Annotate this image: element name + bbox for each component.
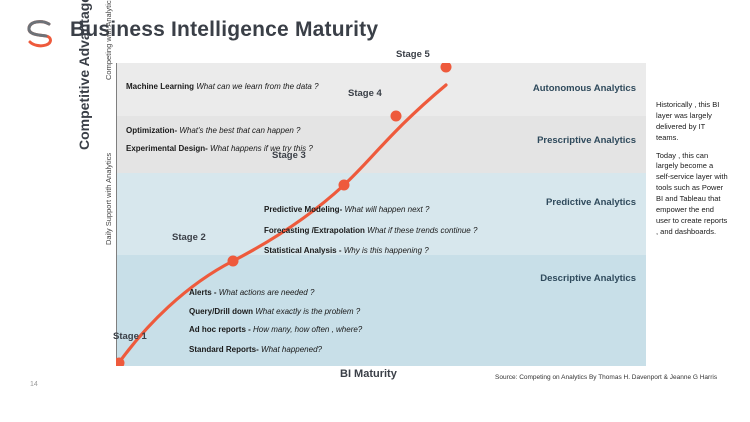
y-axis-title: Competitive Advantage (76, 0, 92, 150)
band-label-descriptive: Descriptive Analytics (540, 273, 636, 284)
plot-area: Autonomous Analytics Prescriptive Analyt… (116, 63, 646, 366)
item-term: Predictive Modeling- (264, 205, 342, 214)
item-predictive-modeling: Predictive Modeling- What will happen ne… (264, 205, 429, 214)
y-axis-subtitle-top: Competing with Analytics (104, 0, 113, 80)
item-question: Why is this happening ? (344, 246, 429, 255)
item-standard-reports: Standard Reports- What happened? (189, 345, 322, 354)
item-question: How many, how often , where? (253, 325, 362, 334)
y-axis-subtitle-bottom: Daily Support with Analytics (104, 153, 113, 245)
item-statistical-analysis: Statistical Analysis - Why is this happe… (264, 246, 429, 255)
item-machine-learning: Machine Learning What can we learn from … (126, 82, 319, 91)
item-term: Experimental Design- (126, 144, 208, 153)
side-note-paragraph-2: Today , this can largely become a self-s… (656, 151, 728, 238)
item-question: What will happen next ? (344, 205, 429, 214)
item-term: Ad hoc reports - (189, 325, 251, 334)
band-label-predictive: Predictive Analytics (546, 197, 636, 208)
item-alerts: Alerts - What actions are needed ? (189, 288, 314, 297)
stage-label-1: Stage 1 (113, 331, 147, 342)
band-label-autonomous: Autonomous Analytics (533, 83, 636, 94)
stage-label-4: Stage 4 (348, 88, 382, 99)
slide: Business Intelligence Maturity 14 Compet… (0, 0, 750, 422)
side-note-paragraph-1: Historically , this BI layer was largely… (656, 100, 728, 144)
item-question: What can we learn from the data ? (196, 82, 318, 91)
source-citation: Source: Competing on Analytics By Thomas… (495, 374, 717, 381)
item-term: Alerts - (189, 288, 217, 297)
item-query-drill-down: Query/Drill down What exactly is the pro… (189, 307, 360, 316)
item-question: What happens if we try this ? (210, 144, 313, 153)
page-title: Business Intelligence Maturity (70, 18, 378, 42)
stage-label-5: Stage 5 (396, 49, 430, 60)
side-note: Historically , this BI layer was largely… (656, 100, 728, 245)
item-forecasting: Forecasting /Extrapolation What if these… (264, 226, 477, 235)
item-ad-hoc-reports: Ad hoc reports - How many, how often , w… (189, 325, 362, 334)
item-question: What's the best that can happen ? (179, 126, 300, 135)
s-logo-icon (22, 18, 58, 52)
item-optimization: Optimization- What's the best that can h… (126, 126, 301, 135)
item-term: Statistical Analysis - (264, 246, 342, 255)
band-label-prescriptive: Prescriptive Analytics (537, 135, 636, 146)
item-question: What happened? (261, 345, 322, 354)
item-term: Query/Drill down (189, 307, 253, 316)
item-term: Forecasting /Extrapolation (264, 226, 365, 235)
item-term: Standard Reports- (189, 345, 259, 354)
item-term: Machine Learning (126, 82, 194, 91)
item-question: What exactly is the problem ? (255, 307, 360, 316)
item-question: What if these trends continue ? (367, 226, 477, 235)
page-number: 14 (30, 381, 38, 388)
stage-label-2: Stage 2 (172, 232, 206, 243)
item-term: Optimization- (126, 126, 177, 135)
item-question: What actions are needed ? (219, 288, 315, 297)
item-experimental-design: Experimental Design- What happens if we … (126, 144, 313, 153)
x-axis-title: BI Maturity (340, 368, 397, 380)
